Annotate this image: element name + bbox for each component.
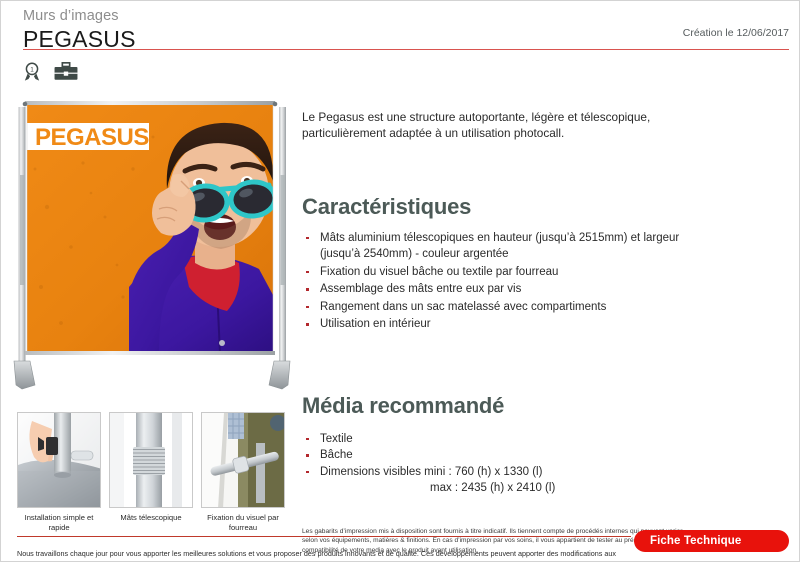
list-item: Bâche bbox=[302, 447, 692, 464]
list-item: Fixation du visuel bâche ou textile par … bbox=[302, 264, 692, 281]
list-item-dimensions: Dimensions visibles mini : 760 (h) x 133… bbox=[302, 464, 692, 497]
section-heading-media: Média recommandé bbox=[302, 393, 692, 419]
list-item: Mâts aluminium télescopiques en hauteur … bbox=[302, 230, 692, 263]
list-item: Assemblage des mâts entre eux par vis bbox=[302, 281, 692, 298]
briefcase-icon bbox=[53, 61, 79, 88]
thumb-fixation-caption: Fixation du visuel par fourreau bbox=[201, 513, 285, 533]
thumb-masts-image bbox=[109, 412, 193, 508]
thumb-installation-image bbox=[17, 412, 101, 508]
content-column: Le Pegasus est une structure autoportant… bbox=[302, 97, 692, 562]
technical-sheet-page: Murs d’images PEGASUS Création le 12/06/… bbox=[0, 0, 800, 562]
thumb-masts: Mâts télescopique bbox=[109, 412, 193, 533]
dimensions-min: Dimensions visibles mini : 760 (h) x 133… bbox=[320, 464, 692, 481]
list-item: Rangement dans un sac matelassé avec com… bbox=[302, 299, 692, 316]
thumb-installation-caption: Installation simple et rapide bbox=[17, 513, 101, 533]
thumb-fixation: Fixation du visuel par fourreau bbox=[201, 412, 285, 533]
thumb-masts-caption: Mâts télescopique bbox=[109, 513, 193, 523]
product-intro: Le Pegasus est une structure autoportant… bbox=[302, 109, 692, 142]
header-divider bbox=[23, 49, 789, 50]
section-heading-caracteristiques: Caractéristiques bbox=[302, 194, 692, 220]
media-list: Textile Bâche Dimensions visibles mini :… bbox=[302, 431, 692, 497]
footer-disclaimer: Nous travaillons chaque jour pour vous a… bbox=[17, 549, 617, 562]
thumb-fixation-image bbox=[201, 412, 285, 508]
creation-date: Création le 12/06/2017 bbox=[683, 27, 789, 39]
svg-text:1: 1 bbox=[30, 66, 34, 73]
detail-thumbnails: Installation simple et rapide bbox=[17, 412, 285, 533]
category-kicker: Murs d’images bbox=[23, 7, 779, 25]
list-item: Utilisation en intérieur bbox=[302, 316, 692, 333]
thumb-installation: Installation simple et rapide bbox=[17, 412, 101, 533]
award-ribbon-icon: 1 bbox=[21, 61, 43, 88]
page-header: Murs d’images PEGASUS bbox=[23, 7, 779, 52]
product-hero-image: PEGASUS bbox=[13, 97, 291, 397]
feature-icons: 1 bbox=[21, 61, 79, 88]
fiche-technique-button[interactable]: Fiche Technique bbox=[634, 530, 789, 552]
hero-banner-text: PEGASUS bbox=[35, 124, 149, 151]
caracteristiques-list: Mâts aluminium télescopiques en hauteur … bbox=[302, 230, 692, 333]
dimensions-max: max : 2435 (h) x 2410 (l) bbox=[320, 480, 692, 497]
footer-divider bbox=[17, 536, 631, 537]
list-item: Textile bbox=[302, 431, 692, 448]
